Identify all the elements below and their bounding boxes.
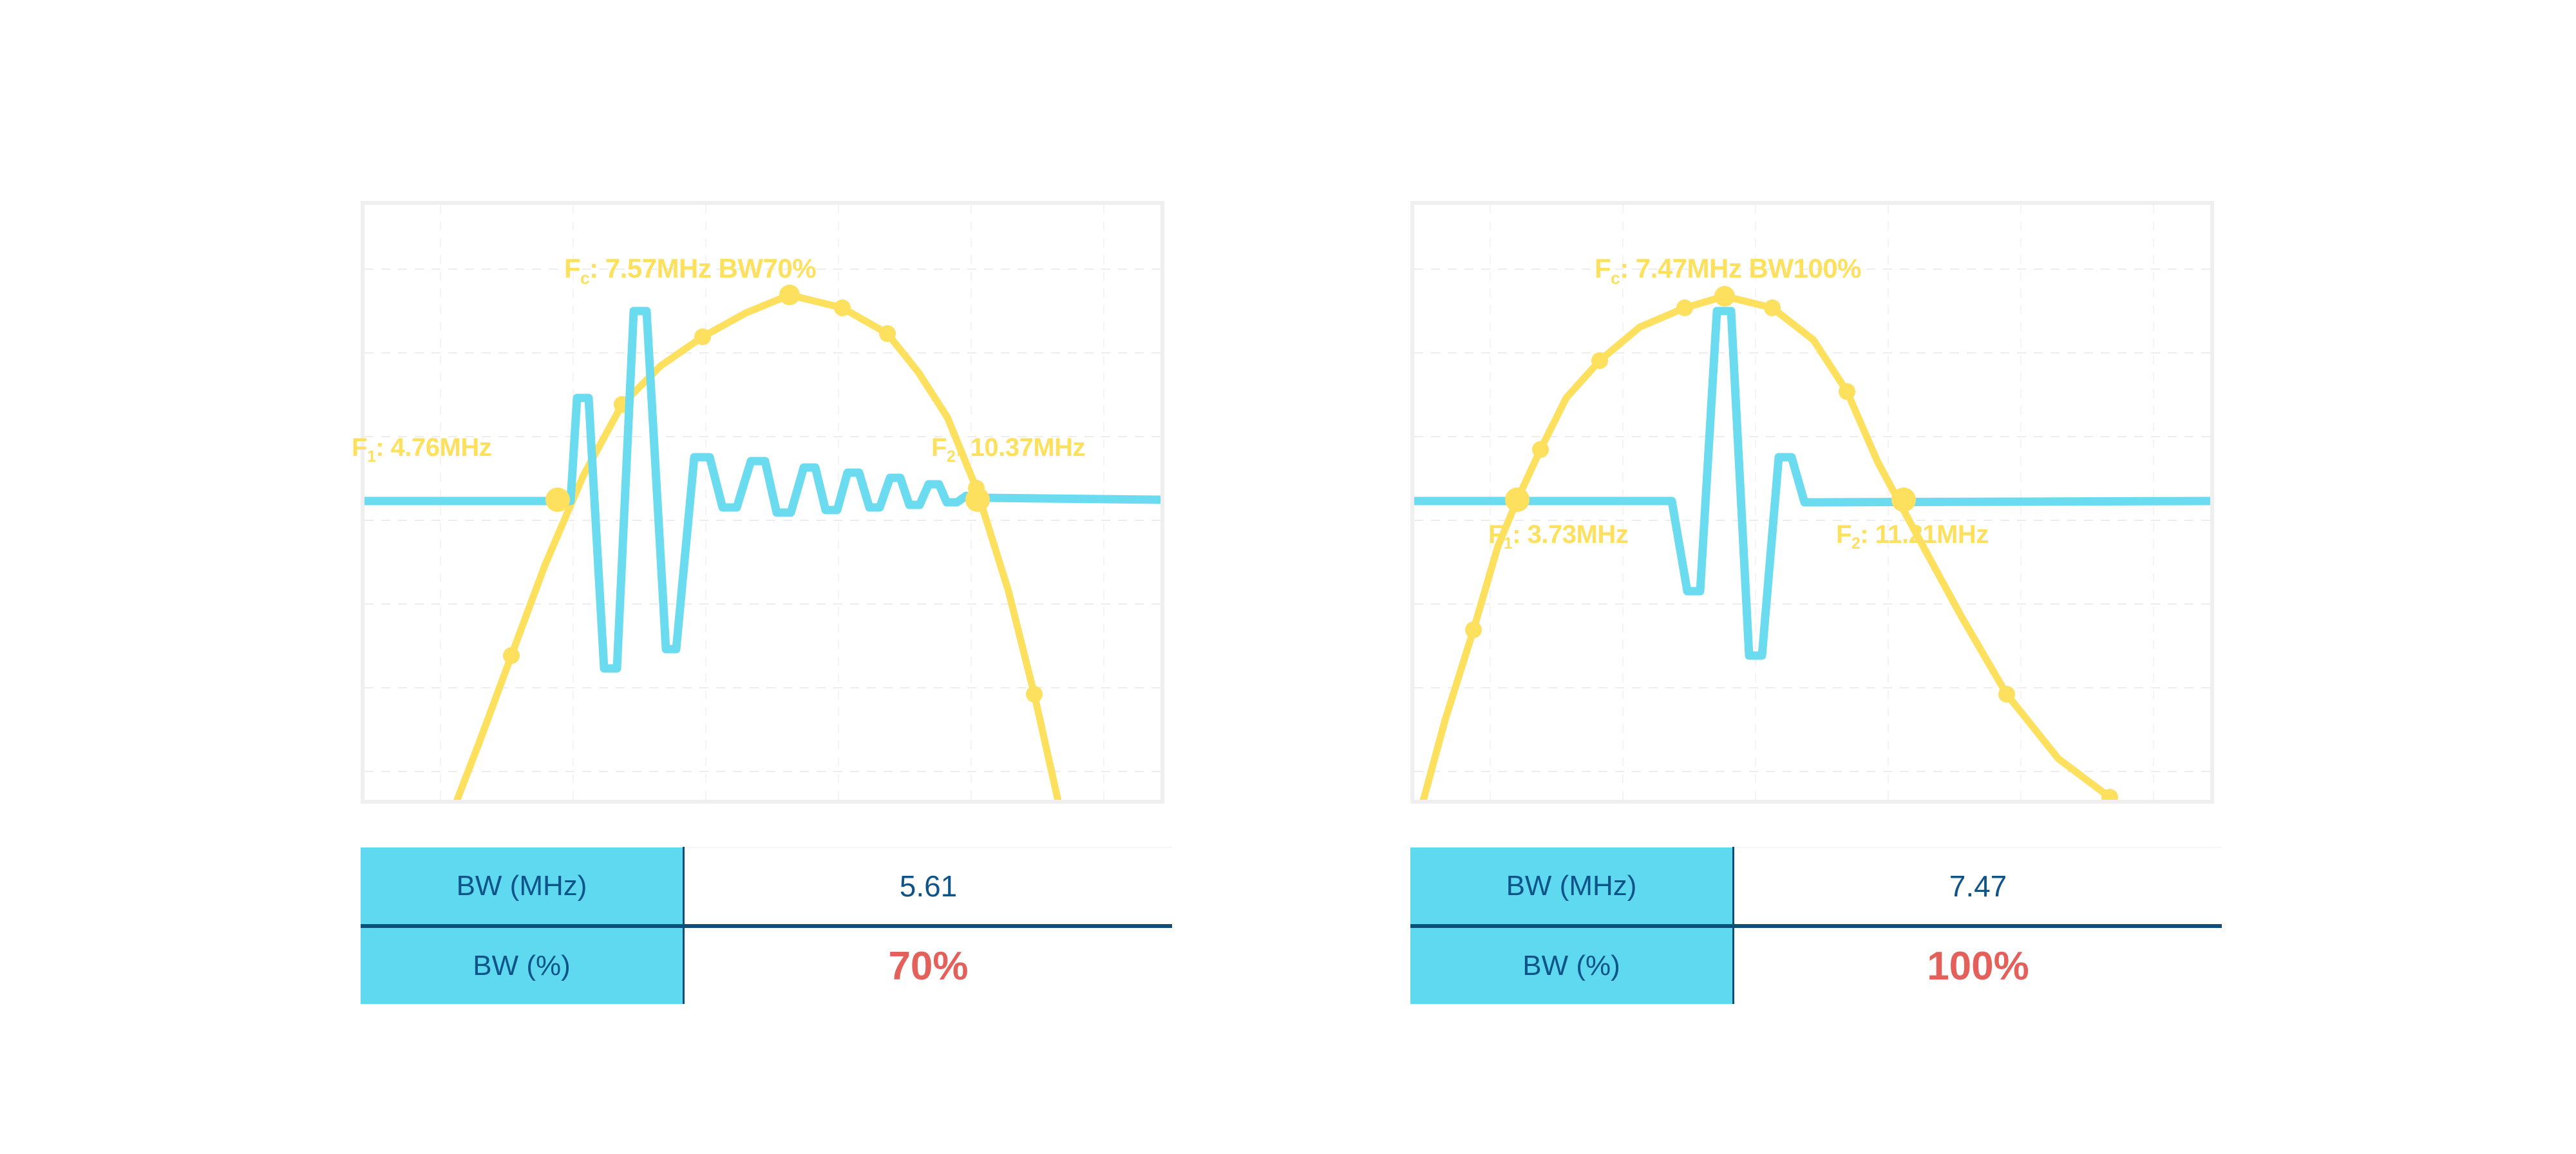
bw-mhz-value-left: 5.61 [684, 847, 1173, 926]
chart-right-svg [1414, 205, 2210, 800]
bw-pct-value-right: 100% [1734, 926, 2222, 1004]
label-fc-right: Fc: 7.47MHz BW100% [1595, 253, 1861, 284]
bw-mhz-header-left: BW (MHz) [361, 847, 684, 926]
pulse-waveform-left [365, 311, 1160, 668]
bw-mhz-header-right: BW (MHz) [1410, 847, 1734, 926]
chart-left-svg [365, 205, 1160, 800]
label-f1-left: F1: 4.76MHz [352, 433, 491, 462]
label-f1-right: F1: 3.73MHz [1488, 520, 1628, 549]
label-f2-left: F2: 10.37MHz [931, 433, 1085, 462]
bw-pct-value-left: 70% [684, 926, 1173, 1004]
bw-pct-header-right: BW (%) [1410, 926, 1734, 1004]
table-row: BW (%) 100% [1410, 926, 2222, 1004]
bandwidth-curve-left [448, 295, 1059, 800]
table-row: BW (MHz) 5.61 [361, 847, 1172, 926]
chart-left: Fc: 7.57MHz BW70% F1: 4.76MHz F2: 10.37M… [361, 201, 1164, 804]
bw-mhz-value-right: 7.47 [1734, 847, 2222, 926]
label-f2-right: F2: 11.21MHz [1836, 520, 1989, 549]
bw-pct-header-left: BW (%) [361, 926, 684, 1004]
label-fc-left: Fc: 7.57MHz BW70% [564, 253, 816, 284]
table-row: BW (MHz) 7.47 [1410, 847, 2222, 926]
bw-table-right: BW (MHz) 7.47 BW (%) 100% [1410, 847, 2222, 1004]
table-row: BW (%) 70% [361, 926, 1172, 1004]
panel-left: Fc: 7.57MHz BW70% F1: 4.76MHz F2: 10.37M… [309, 0, 1340, 1154]
bw-table-left: BW (MHz) 5.61 BW (%) 70% [361, 847, 1172, 1004]
panel-right: Fc: 7.47MHz BW100% F1: 3.73MHz F2: 11.21… [1359, 0, 2389, 1154]
chart-right: Fc: 7.47MHz BW100% F1: 3.73MHz F2: 11.21… [1410, 201, 2214, 804]
